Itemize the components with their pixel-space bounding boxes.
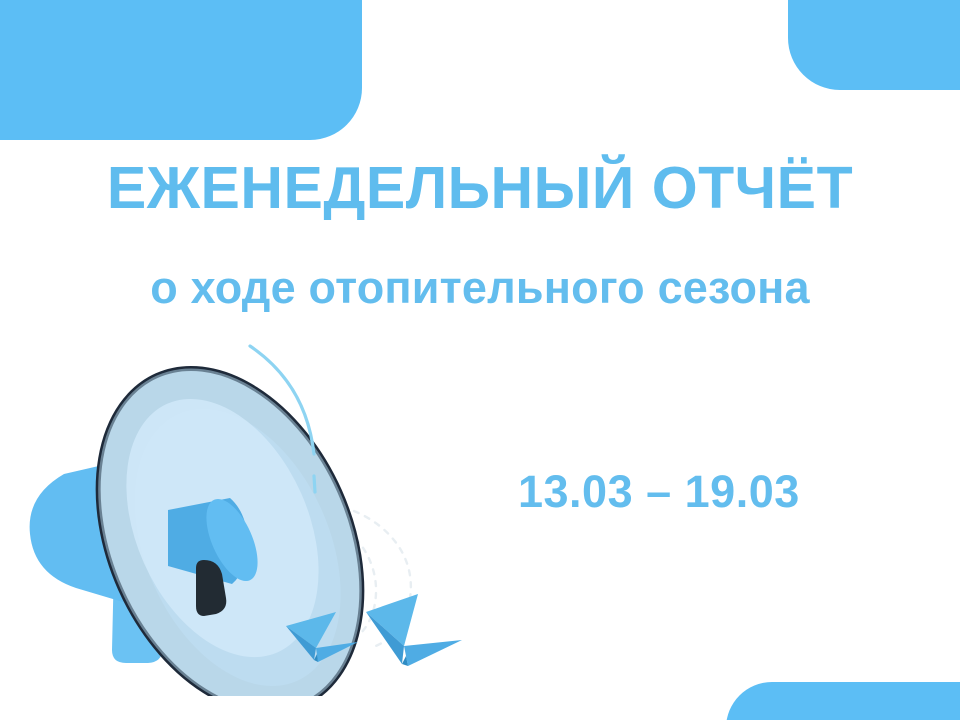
megaphone-illustration [18,326,488,696]
page-title: ЕЖЕНЕДЕЛЬНЫЙ ОТЧЁТ [0,158,960,220]
decorative-block-top-right [788,0,960,90]
page-subtitle: о ходе отопительного сезона [0,264,960,311]
megaphone-illustration-svg [18,326,488,696]
paper-plane-large-icon [366,594,462,666]
date-range-label: 13.03 – 19.03 [518,468,800,515]
decorative-block-top-left [0,0,362,140]
slide-canvas: ЕЖЕНЕДЕЛЬНЫЙ ОТЧЁТ о ходе отопительного … [0,0,960,720]
decorative-block-bottom-right [726,682,960,720]
